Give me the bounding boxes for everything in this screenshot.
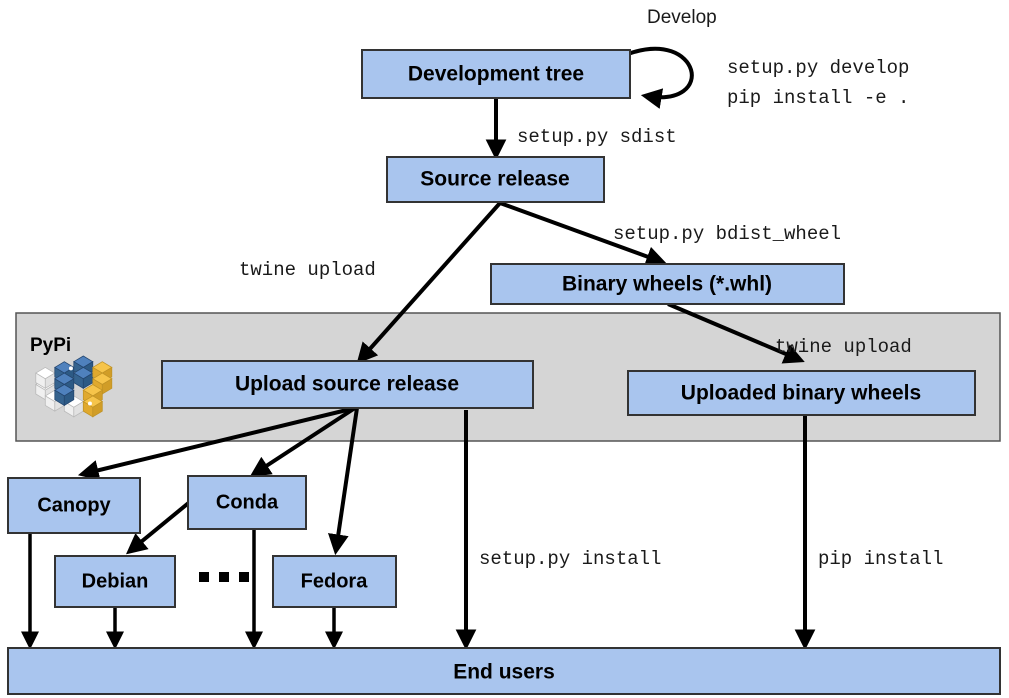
edge-label-setup-py-install: setup.py install xyxy=(479,548,661,570)
ellipsis-icon xyxy=(199,572,249,582)
edge-label-twine-upload-wheels: twine upload xyxy=(775,336,912,358)
node-development-tree-label: Development tree xyxy=(408,63,584,86)
node-upload-source-release-label: Upload source release xyxy=(235,373,459,396)
node-uploaded-binary-wheels-label: Uploaded binary wheels xyxy=(681,382,921,405)
edge-label-develop: Develop xyxy=(647,7,717,28)
node-canopy[interactable]: Canopy xyxy=(8,478,140,533)
node-development-tree[interactable]: Development tree xyxy=(362,50,630,98)
node-fedora-label: Fedora xyxy=(301,570,369,592)
node-debian-label: Debian xyxy=(82,570,149,592)
node-end-users[interactable]: End users xyxy=(8,648,1000,694)
node-source-release-label: Source release xyxy=(420,168,569,191)
node-source-release[interactable]: Source release xyxy=(387,157,604,202)
edge-label-pip-install-e: pip install -e . xyxy=(727,87,909,109)
packaging-flow-diagram: PyPi xyxy=(0,0,1009,698)
edge-label-setup-py-sdist: setup.py sdist xyxy=(517,126,677,148)
node-upload-source-release[interactable]: Upload source release xyxy=(162,361,533,408)
node-binary-wheels-label: Binary wheels (*.whl) xyxy=(562,273,772,296)
node-uploaded-binary-wheels[interactable]: Uploaded binary wheels xyxy=(628,371,975,415)
node-debian[interactable]: Debian xyxy=(55,556,175,607)
pypi-group-label: PyPi xyxy=(30,335,71,356)
node-conda-label: Conda xyxy=(216,491,279,513)
node-end-users-label: End users xyxy=(453,661,555,684)
edge-label-setup-py-develop: setup.py develop xyxy=(727,57,909,79)
node-canopy-label: Canopy xyxy=(37,494,111,516)
edge-label-pip-install: pip install xyxy=(818,548,943,570)
node-binary-wheels[interactable]: Binary wheels (*.whl) xyxy=(491,264,844,304)
edge-develop-selfloop xyxy=(628,49,692,97)
node-conda[interactable]: Conda xyxy=(188,476,306,529)
edge-label-twine-upload-source: twine upload xyxy=(239,259,376,281)
node-fedora[interactable]: Fedora xyxy=(273,556,396,607)
diagram-canvas: PyPi xyxy=(0,0,1009,698)
edge-label-setup-py-bdist-wheel: setup.py bdist_wheel xyxy=(613,223,841,245)
